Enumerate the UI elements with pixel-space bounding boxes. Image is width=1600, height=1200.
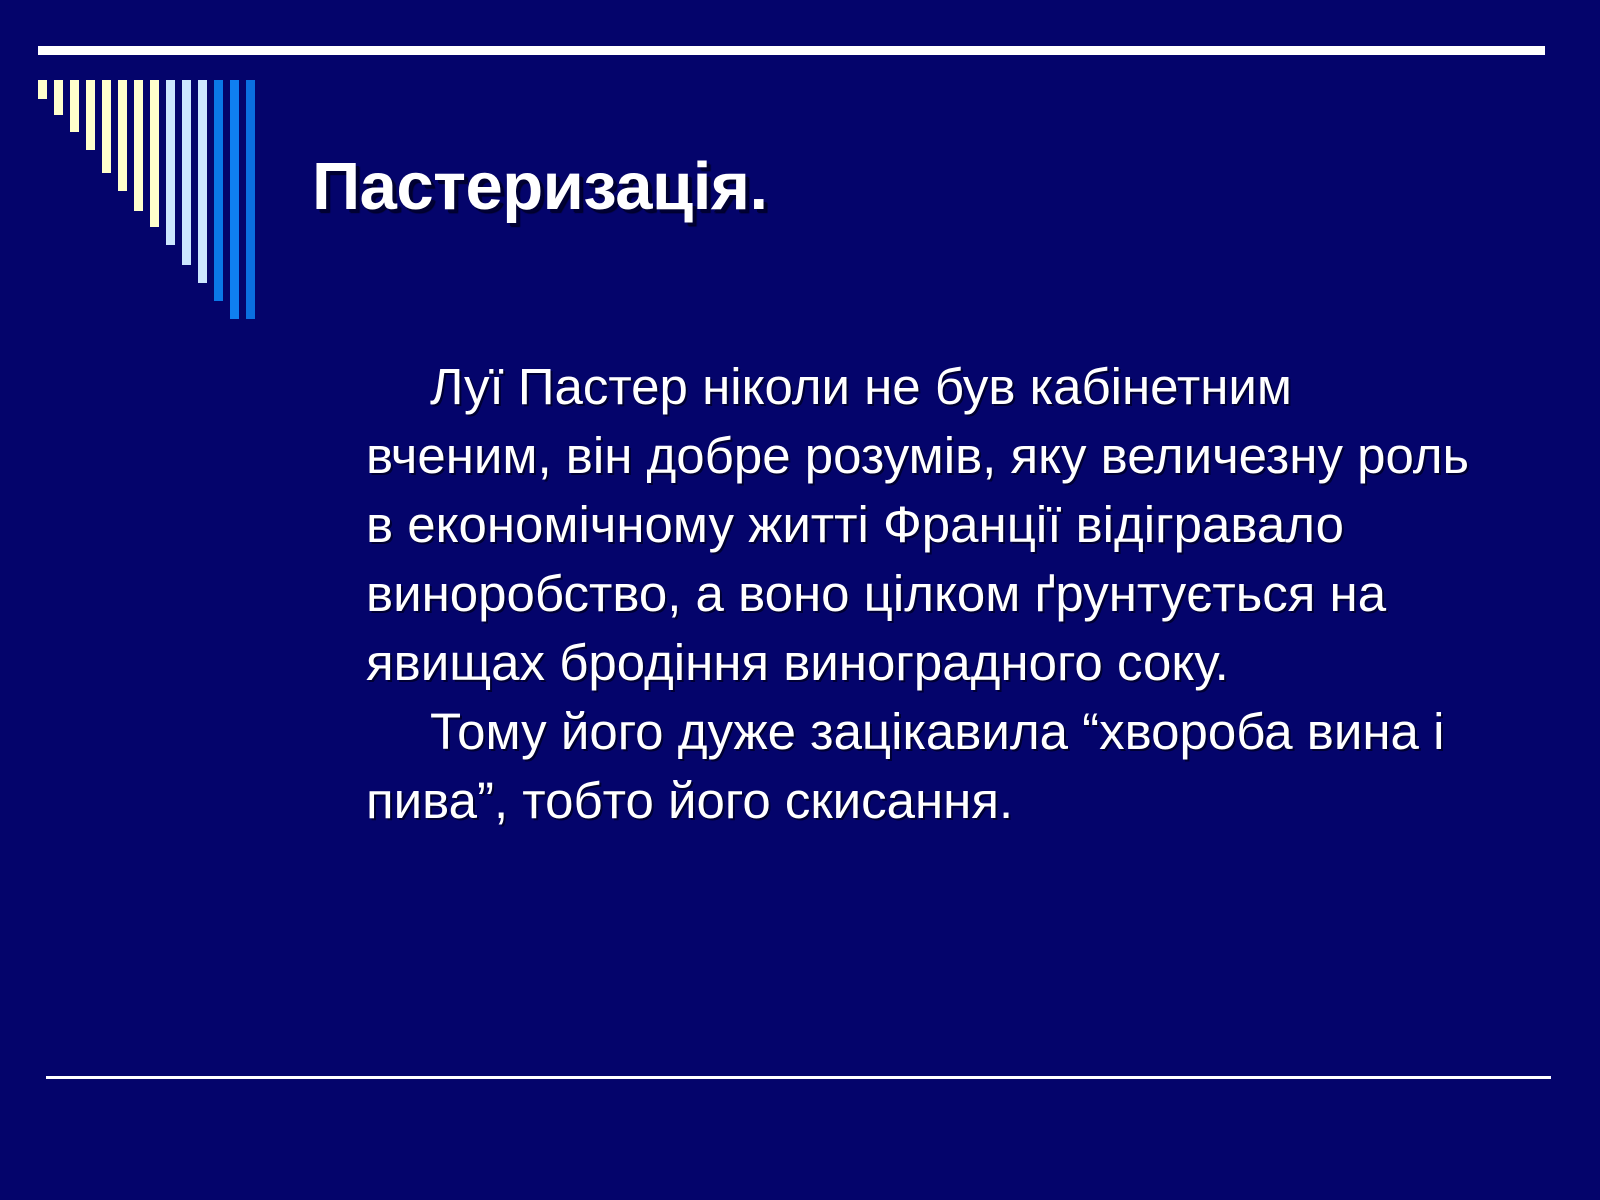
decorative-bar — [70, 80, 79, 132]
body-paragraph-1: Луї Пастер ніколи не був кабінетним вчен… — [366, 352, 1486, 697]
decorative-bar — [86, 80, 95, 150]
bottom-divider-rule — [46, 1076, 1551, 1079]
body-paragraph-2: Тому його дуже зацікавила “хвороба вина … — [366, 697, 1486, 835]
slide-canvas: Пастеризація. Луї Пастер ніколи не був к… — [0, 0, 1600, 1200]
decorative-bar — [102, 80, 111, 173]
decorative-bar — [214, 80, 223, 301]
slide-body-text: Луї Пастер ніколи не був кабінетним вчен… — [366, 352, 1486, 835]
page-title: Пастеризація. — [312, 148, 768, 225]
decorative-bar — [166, 80, 175, 245]
decorative-bar — [54, 80, 63, 115]
decorative-bar — [134, 80, 143, 211]
decorative-bar — [150, 80, 159, 227]
decorative-bars-graphic — [38, 80, 268, 330]
decorative-bar — [118, 80, 127, 191]
decorative-bar — [198, 80, 207, 283]
decorative-bar — [38, 80, 47, 99]
decorative-bar — [246, 80, 255, 319]
top-divider-rule — [38, 46, 1545, 55]
decorative-bar — [182, 80, 191, 265]
decorative-bar — [230, 80, 239, 319]
